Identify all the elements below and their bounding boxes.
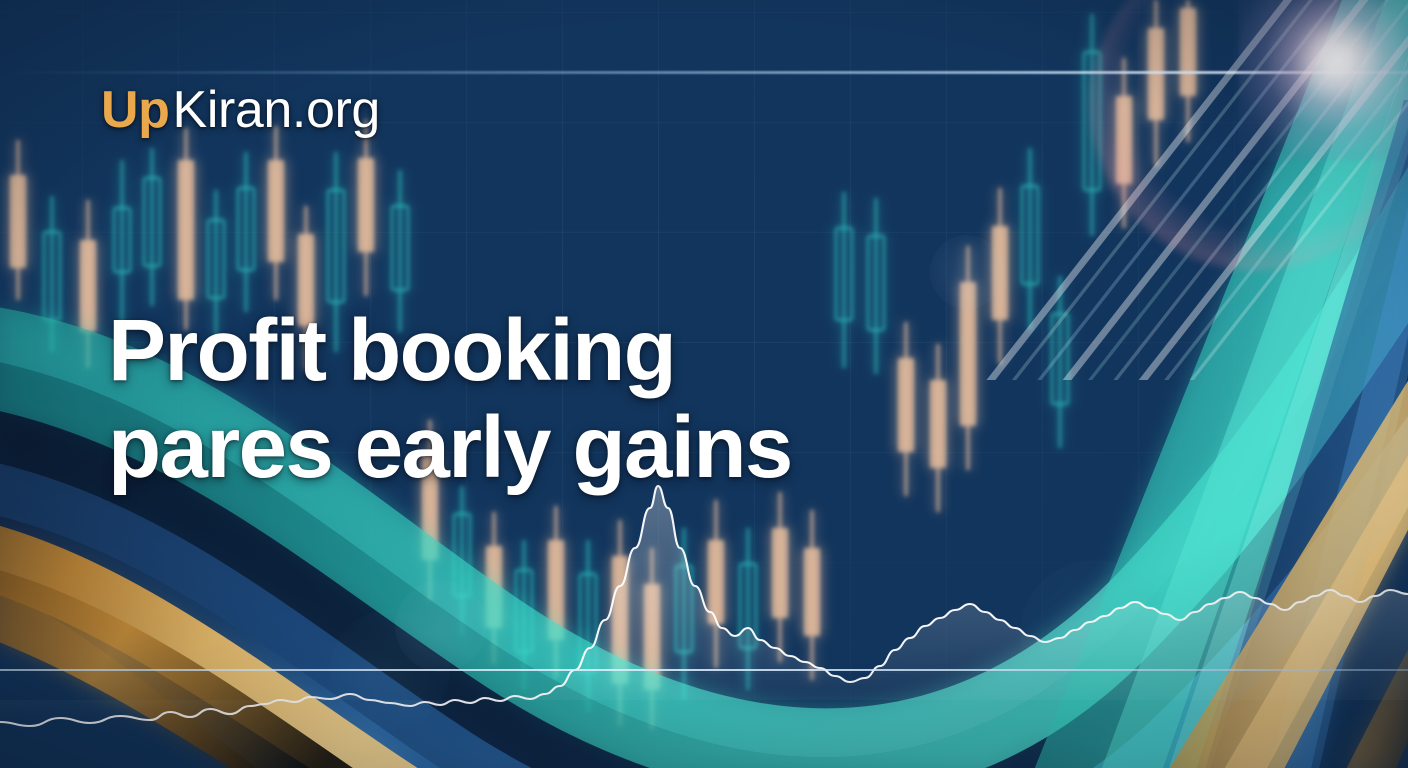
headline-line-2: pares early gains [108, 399, 792, 496]
page-title: Profit booking pares early gains [108, 303, 792, 496]
logo-brand-up: Up [101, 81, 170, 139]
logo-brand-domain: Kiran.org [173, 81, 380, 139]
news-banner: UpKiran.org Profit booking pares early g… [0, 0, 1408, 768]
site-logo[interactable]: UpKiran.org [101, 84, 380, 136]
banner-content: UpKiran.org Profit booking pares early g… [0, 0, 1408, 768]
headline-line-1: Profit booking [108, 302, 675, 399]
